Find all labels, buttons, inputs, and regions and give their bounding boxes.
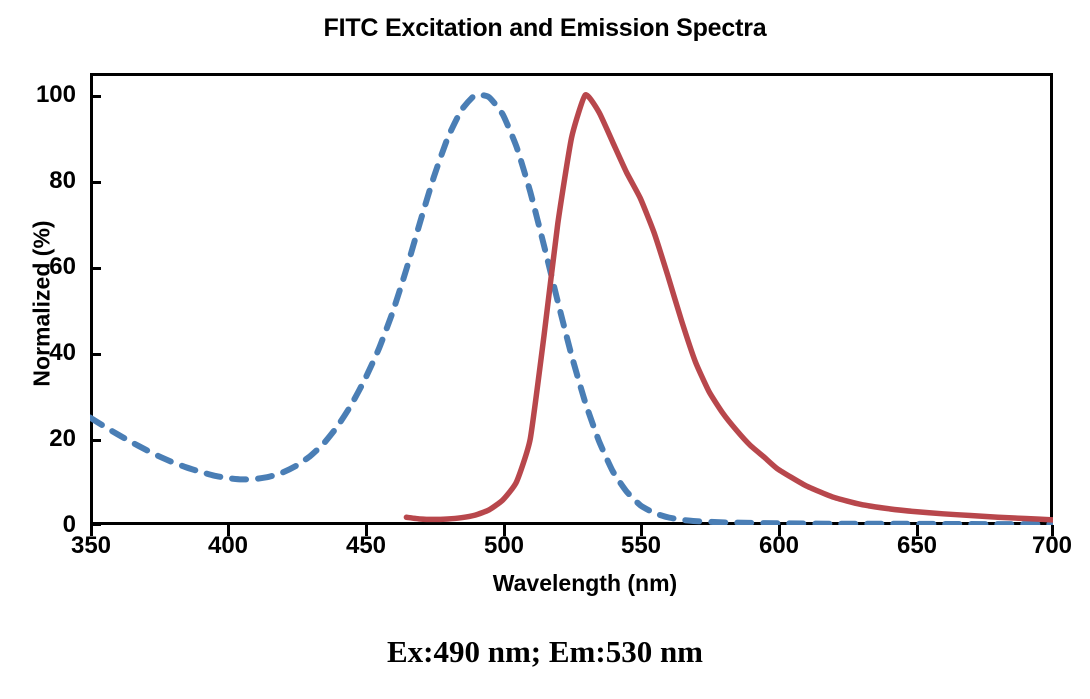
x-tick-label: 550 xyxy=(586,534,696,558)
y-axis-title: Normalized (%) xyxy=(29,154,56,454)
y-tick-mark xyxy=(90,267,101,270)
x-tick-label: 450 xyxy=(311,534,421,558)
x-tick-label: 500 xyxy=(449,534,559,558)
x-tick-label: 350 xyxy=(36,534,146,558)
x-tick-label: 650 xyxy=(862,534,972,558)
y-tick-mark xyxy=(90,439,101,442)
y-tick-label: 100 xyxy=(14,83,76,107)
x-axis-title: Wavelength (nm) xyxy=(0,570,1090,597)
x-tick-label: 700 xyxy=(997,534,1090,558)
x-tick-label: 400 xyxy=(173,534,283,558)
figure-caption: Ex:490 nm; Em:530 nm xyxy=(0,634,1090,670)
x-tick-label: 600 xyxy=(724,534,834,558)
y-tick-mark xyxy=(90,95,101,98)
emission-curve xyxy=(406,95,1053,520)
page-title: FITC Excitation and Emission Spectra xyxy=(0,14,1090,43)
y-tick-mark xyxy=(90,353,101,356)
excitation-curve xyxy=(90,95,1053,524)
y-tick-mark xyxy=(90,181,101,184)
chart-page: FITC Excitation and Emission Spectra 100… xyxy=(0,0,1090,699)
plot-canvas xyxy=(90,73,1053,525)
